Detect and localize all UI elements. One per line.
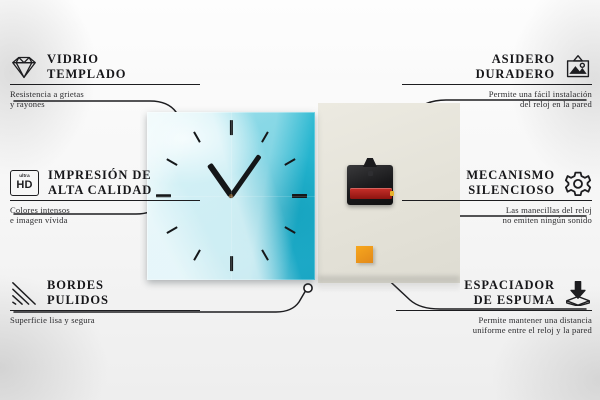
feature-mecanismo-silencioso: MECANISMO SILENCIOSO Las manecillas del … [402,168,592,226]
clock-movement [347,165,393,205]
clock-tick [229,120,232,135]
feature-description: Permite una fácil instalación del reloj … [402,89,592,110]
feature-description: Resistencia a grietas y rayones [10,89,200,110]
feature-vidrio-templado: VIDRIO TEMPLADO Resistencia a grietas y … [10,52,200,110]
feature-description: Superficie lisa y segura [10,315,200,325]
infographic-canvas: VIDRIO TEMPLADO Resistencia a grietas y … [0,0,600,400]
minute-hand [229,154,262,198]
clock-tick [261,249,269,260]
feature-divider [396,310,592,311]
clock-tick [166,226,177,234]
clock-tick [284,226,295,234]
feature-header: ultra HD IMPRESIÓN DE ALTA CALIDAD [10,168,200,197]
feature-title: ESPACIADOR DE ESPUMA [464,278,555,307]
feature-title: BORDES PULIDOS [47,278,109,307]
clock-tick [292,194,307,197]
feature-asidero-duradero: ASIDERO DURADERO Permite una fácil insta… [402,52,592,110]
feature-title: ASIDERO DURADERO [476,52,555,81]
feature-impresion-alta-calidad: ultra HD IMPRESIÓN DE ALTA CALIDAD Color… [10,168,200,226]
feature-header: VIDRIO TEMPLADO [10,52,200,81]
hour-hand [207,163,233,197]
battery [350,188,392,199]
feature-divider [402,84,592,85]
movement-shaft [368,171,373,176]
feature-header: ESPACIADOR DE ESPUMA [396,278,592,307]
feature-bordes-pulidos: BORDES PULIDOS Superficie lisa y segura [10,278,200,325]
picture-frame-hanger-icon [564,54,592,80]
feature-espaciador-de-espuma: ESPACIADOR DE ESPUMA Permite mantener un… [396,278,592,336]
foam-spacer-arrow-icon [564,280,592,306]
battery-terminal [390,191,394,196]
feature-header: MECANISMO SILENCIOSO [402,168,592,197]
ultra-hd-icon-large-text: HD [16,180,32,191]
feature-title: IMPRESIÓN DE ALTA CALIDAD [48,168,152,197]
feature-description: Las manecillas del reloj no emiten ningú… [402,205,592,226]
feature-title: VIDRIO TEMPLADO [47,52,126,81]
gear-icon [564,170,592,196]
feature-header: BORDES PULIDOS [10,278,200,307]
clock-tick [284,158,295,166]
feature-description: Permite mantener una distancia uniforme … [396,315,592,336]
polished-edge-icon [10,280,38,306]
feature-divider [10,310,200,311]
feature-title: MECANISMO SILENCIOSO [466,168,555,197]
feature-divider [402,200,592,201]
ultra-hd-icon: ultra HD [10,170,39,196]
foam-spacer [356,246,373,263]
clock-tick [229,256,232,271]
feature-divider [10,84,200,85]
clock-tick [261,131,269,142]
clock-tick [193,131,201,142]
feature-header: ASIDERO DURADERO [402,52,592,81]
feature-description: Colores intensos e imagen vívida [10,205,200,226]
diamond-icon [10,54,38,80]
clock-tick [166,158,177,166]
clock-tick [193,249,201,260]
feature-divider [10,200,200,201]
center-pin [229,194,233,198]
